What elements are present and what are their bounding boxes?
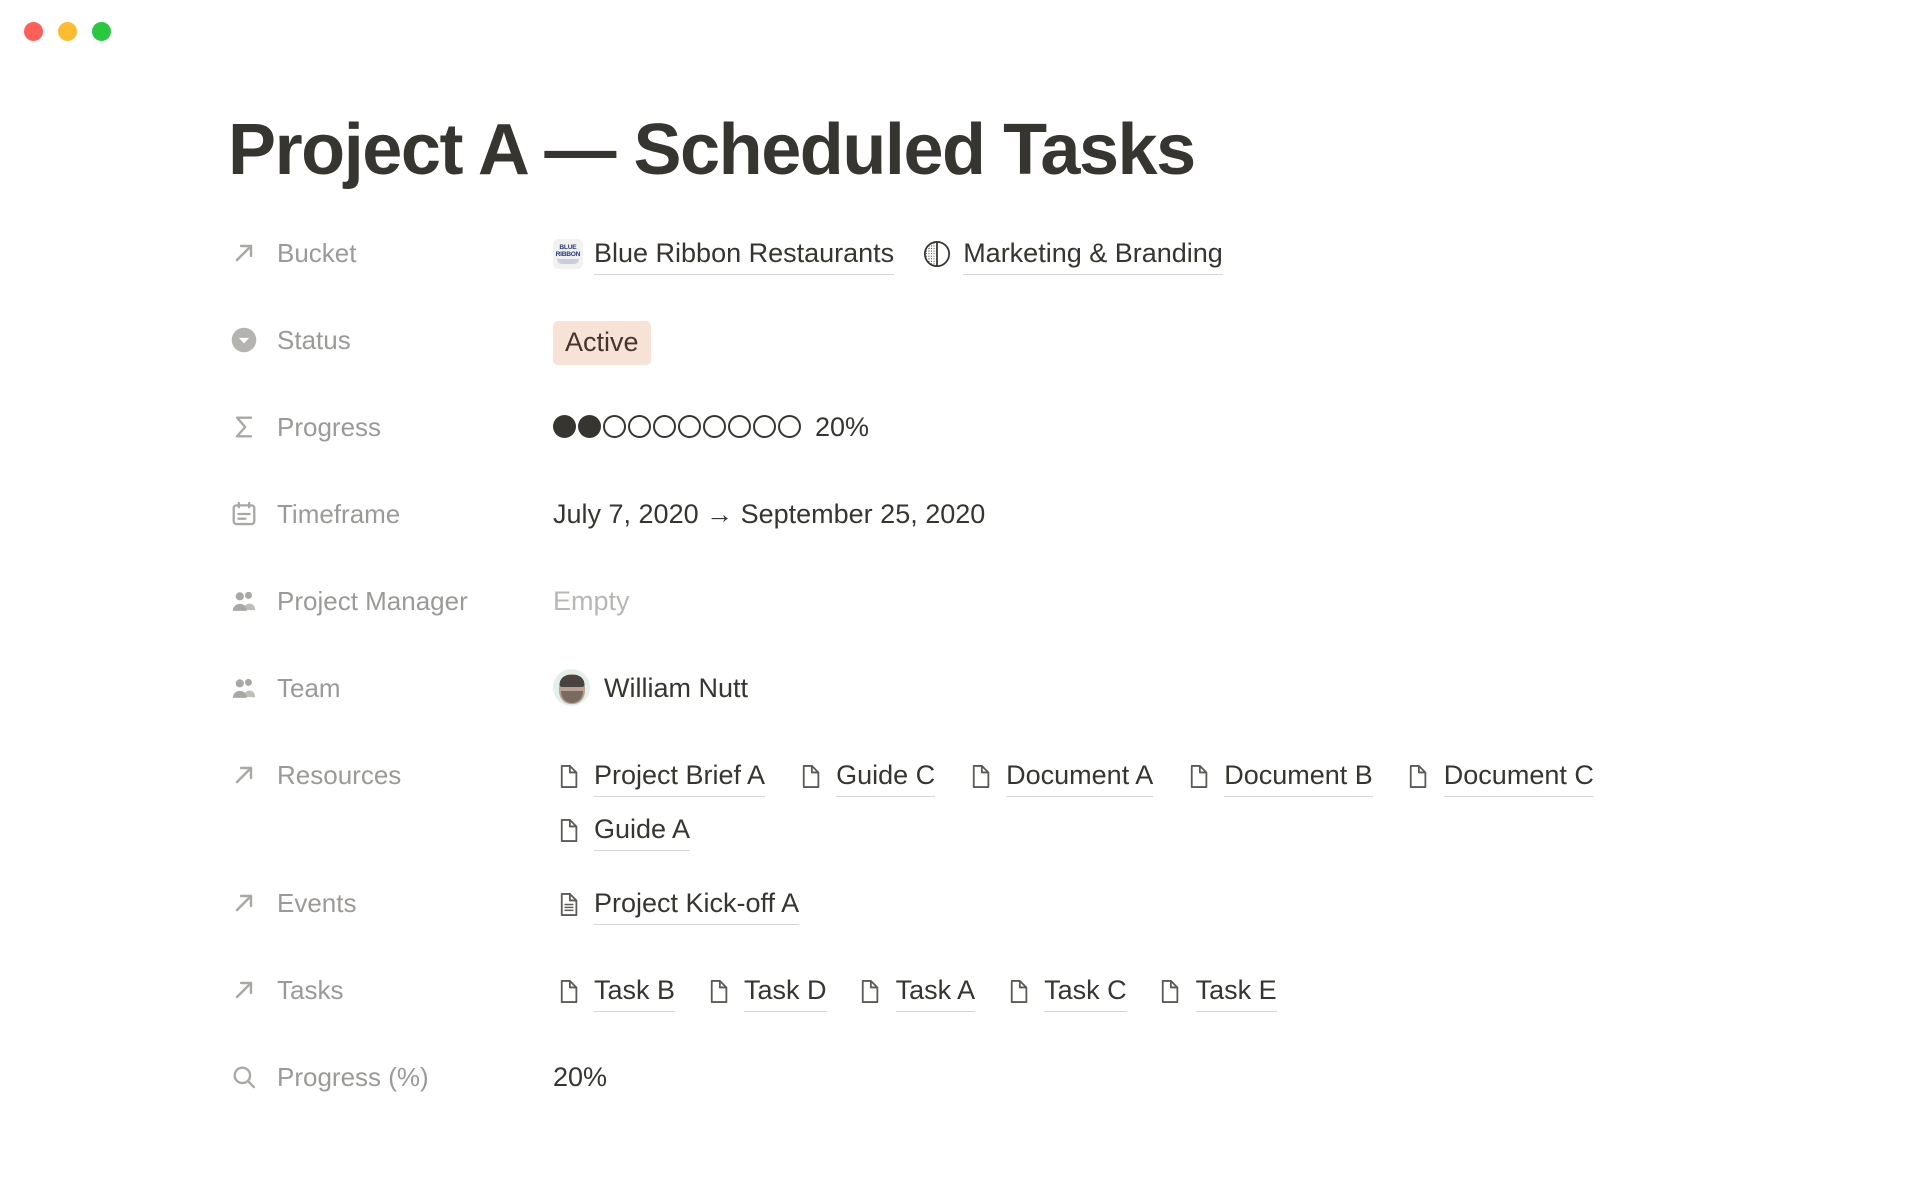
property-value-progress-percent[interactable]: 20% (553, 1056, 1860, 1096)
traffic-lights (24, 22, 111, 41)
blue-ribbon-favicon: BLUERIBBON (553, 239, 583, 269)
property-value-events: Project Kick-off A (553, 882, 1860, 925)
page-content: Project A — Scheduled Tasks Bucket BLUER… (0, 112, 1920, 1112)
progress-dot (653, 415, 676, 438)
property-row-tasks: Tasks Task B Task D (228, 969, 1860, 1025)
page-icon (553, 976, 583, 1006)
page-icon (553, 815, 583, 845)
progress-dots[interactable]: 20% (553, 408, 869, 446)
property-label-timeframe[interactable]: Timeframe (228, 493, 553, 531)
relation-chip-label: Document B (1224, 756, 1373, 797)
empty-placeholder: Empty (553, 582, 630, 620)
property-label-project-manager[interactable]: Project Manager (228, 580, 553, 618)
arrow-up-right-icon (228, 759, 260, 791)
close-button[interactable] (24, 22, 43, 41)
relation-chip-label: Guide C (836, 756, 935, 797)
property-label-text: Resources (277, 758, 401, 792)
property-value-timeframe[interactable]: July 7, 2020 → September 25, 2020 (553, 493, 1860, 533)
page-icon (703, 976, 733, 1006)
property-label-text: Timeframe (277, 497, 400, 531)
relation-chip-task-c[interactable]: Task C (1003, 971, 1127, 1012)
property-row-status: Status Active (228, 319, 1860, 375)
people-icon (228, 672, 260, 704)
property-label-status[interactable]: Status (228, 319, 553, 357)
people-icon (228, 585, 260, 617)
property-row-resources: Resources Project Brief A Guide C (228, 754, 1860, 851)
page-icon (1155, 976, 1185, 1006)
property-value-project-manager[interactable]: Empty (553, 580, 1860, 620)
property-row-team: Team William Nutt (228, 667, 1860, 723)
property-label-text: Progress (277, 410, 381, 444)
sigma-icon (228, 411, 260, 443)
property-label-events[interactable]: Events (228, 882, 553, 920)
relation-chip-task-b[interactable]: Task B (553, 971, 675, 1012)
relation-chip-label: Task C (1044, 971, 1127, 1012)
relation-chip-task-e[interactable]: Task E (1155, 971, 1277, 1012)
relation-chip-marketing-branding[interactable]: Marketing & Branding (922, 234, 1223, 275)
relation-chip-label: Project Brief A (594, 756, 765, 797)
progress-percent: 20% (815, 408, 869, 446)
progress-dot (778, 415, 801, 438)
half-shaded-circle-icon (922, 239, 952, 269)
progress-dot (703, 415, 726, 438)
zoom-button[interactable] (92, 22, 111, 41)
progress-dot (753, 415, 776, 438)
page-lines-icon (553, 889, 583, 919)
progress-dot (603, 415, 626, 438)
relation-chip-label: Task D (744, 971, 827, 1012)
property-label-tasks[interactable]: Tasks (228, 969, 553, 1007)
calendar-icon (228, 498, 260, 530)
relation-chip-label: Task B (594, 971, 675, 1012)
property-value-progress: 20% (553, 406, 1860, 446)
property-row-progress-percent: Progress (%) 20% (228, 1056, 1860, 1112)
page-title: Project A — Scheduled Tasks (228, 112, 1860, 190)
relation-chip-label: Project Kick-off A (594, 884, 799, 925)
page-icon (965, 761, 995, 791)
avatar (553, 669, 590, 706)
relation-chip-label: Document C (1444, 756, 1594, 797)
property-label-progress-percent[interactable]: Progress (%) (228, 1056, 553, 1094)
relation-chip-document-b[interactable]: Document B (1183, 756, 1373, 797)
page-icon (855, 976, 885, 1006)
relation-chip-guide-a[interactable]: Guide A (553, 810, 690, 851)
property-label-text: Tasks (277, 973, 343, 1007)
property-label-team[interactable]: Team (228, 667, 553, 705)
arrow-up-right-icon (228, 887, 260, 919)
search-icon (228, 1061, 260, 1093)
property-label-text: Progress (%) (277, 1060, 429, 1094)
property-value-resources: Project Brief A Guide C Document A (553, 754, 1633, 851)
property-label-text: Events (277, 886, 357, 920)
minimize-button[interactable] (58, 22, 77, 41)
status-badge[interactable]: Active (553, 321, 651, 365)
page-icon (1403, 761, 1433, 791)
arrow-up-right-icon (228, 974, 260, 1006)
relation-chip-label: Blue Ribbon Restaurants (594, 234, 894, 275)
relation-chip-project-kick-off-a[interactable]: Project Kick-off A (553, 884, 799, 925)
property-label-text: Status (277, 323, 351, 357)
select-circle-icon (228, 324, 260, 356)
progress-dot (728, 415, 751, 438)
property-label-text: Bucket (277, 236, 357, 270)
relation-chip-label: Task E (1196, 971, 1277, 1012)
window-titlebar (0, 0, 1920, 62)
property-row-events: Events Project Kick-off A (228, 882, 1860, 938)
page-icon (553, 761, 583, 791)
relation-chip-document-a[interactable]: Document A (965, 756, 1153, 797)
person-chip-william-nutt[interactable]: William Nutt (553, 669, 748, 707)
relation-chip-label: Task A (896, 971, 976, 1012)
progress-dot (553, 415, 576, 438)
property-row-bucket: Bucket BLUERIBBON Blue Ribbon Restaurant… (228, 232, 1860, 288)
property-label-text: Team (277, 671, 341, 705)
property-label-progress[interactable]: Progress (228, 406, 553, 444)
property-value-status: Active (553, 319, 1860, 365)
relation-chip-task-d[interactable]: Task D (703, 971, 827, 1012)
relation-chip-document-c[interactable]: Document C (1403, 756, 1594, 797)
relation-chip-label: Guide A (594, 810, 690, 851)
page-icon (1183, 761, 1213, 791)
progress-dot (678, 415, 701, 438)
property-value-tasks: Task B Task D Task A (553, 969, 1860, 1012)
page-icon (795, 761, 825, 791)
property-row-timeframe: Timeframe July 7, 2020 → September 25, 2… (228, 493, 1860, 549)
relation-chip-task-a[interactable]: Task A (855, 971, 976, 1012)
property-label-bucket[interactable]: Bucket (228, 232, 553, 270)
progress-percent-text: 20% (553, 1058, 607, 1096)
property-label-resources[interactable]: Resources (228, 754, 553, 792)
property-value-bucket: BLUERIBBON Blue Ribbon Restaurants (553, 232, 1860, 275)
progress-dot (578, 415, 601, 438)
relation-chip-project-brief-a[interactable]: Project Brief A (553, 756, 765, 797)
relation-chip-blue-ribbon-restaurants[interactable]: BLUERIBBON Blue Ribbon Restaurants (553, 234, 894, 275)
page-icon (1003, 976, 1033, 1006)
property-value-team: William Nutt (553, 667, 1860, 707)
relation-chip-label: Marketing & Branding (963, 234, 1223, 275)
person-name: William Nutt (604, 669, 748, 707)
date-range-text: July 7, 2020 → September 25, 2020 (553, 495, 985, 533)
relation-chip-label: Document A (1006, 756, 1153, 797)
property-row-progress: Progress 20% (228, 406, 1860, 462)
relation-chip-guide-c[interactable]: Guide C (795, 756, 935, 797)
arrow-up-right-icon (228, 237, 260, 269)
property-label-text: Project Manager (277, 584, 468, 618)
property-row-project-manager: Project Manager Empty (228, 580, 1860, 636)
progress-dot (628, 415, 651, 438)
property-list: Bucket BLUERIBBON Blue Ribbon Restaurant… (228, 232, 1860, 1112)
